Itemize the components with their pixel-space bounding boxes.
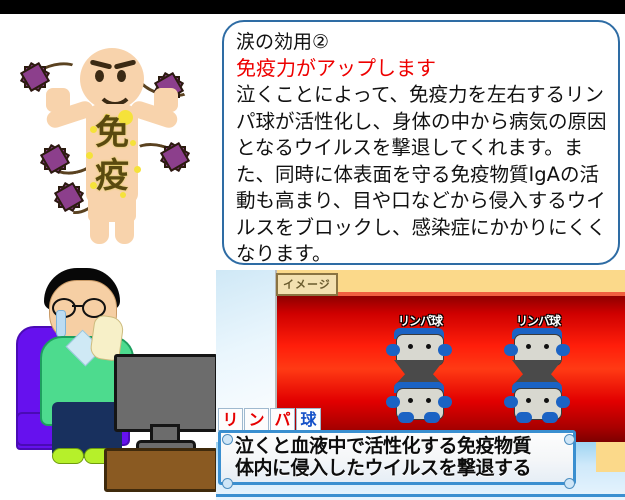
video-red-background <box>277 296 625 442</box>
immunity-illustration: 免疫 <box>6 18 212 260</box>
speech-bubble: 涙の効用② 免疫力がアップします 泣くことによって、免疫力を左右するリンパ球が活… <box>222 20 620 265</box>
mascot-arm <box>386 344 400 356</box>
mascot-eye <box>544 344 549 349</box>
chest-kanji: 免疫 <box>86 112 138 198</box>
caption-line-1: 泣くと血液中で活性化する免疫物質 <box>235 435 565 457</box>
mascot-eye <box>408 398 413 403</box>
left-leg <box>90 198 109 244</box>
mascot-arm <box>438 344 452 356</box>
video-bottom-right-patch <box>596 442 625 472</box>
immunity-body: 免疫 <box>60 48 164 243</box>
video-capture: イメージ リンパ球 リンパ球 <box>216 270 625 500</box>
caption-knob <box>222 478 233 489</box>
image-label-badge: イメージ <box>276 273 338 296</box>
mascot-arm <box>556 396 570 408</box>
mascot-eye <box>426 398 431 403</box>
lymphocyte-mascot: リンパ球 <box>388 312 450 416</box>
right-leg <box>115 198 134 244</box>
bubble-body: 泣くことによって、免疫力を左右するリンパ球が活性化し、身体の中から病気の原因とな… <box>236 82 608 268</box>
title-char: リ <box>218 408 243 431</box>
mascot-eye <box>408 344 413 349</box>
mascot-foot <box>542 412 558 423</box>
mascot-arm <box>556 344 570 356</box>
mascot-label: リンパ球 <box>510 312 566 329</box>
tv-stand <box>104 448 218 492</box>
bubble-title: 涙の効用② <box>236 30 608 55</box>
left-shoe <box>52 448 84 464</box>
crying-man-illustration <box>4 262 216 498</box>
mascot-eye <box>526 344 531 349</box>
mascot-eye <box>526 398 531 403</box>
tv-screen <box>114 354 218 432</box>
title-char: 球 <box>296 408 321 431</box>
mascot-eye <box>426 344 431 349</box>
caption-knob <box>564 478 575 489</box>
top-black-bar <box>0 0 625 14</box>
mascot-foot <box>398 412 414 423</box>
mascot-arm <box>504 396 518 408</box>
tear-icon <box>56 310 66 338</box>
title-char: ン <box>244 408 269 431</box>
mascot-foot <box>516 412 532 423</box>
bubble-subtitle: 免疫力がアップします <box>236 55 608 82</box>
mascot-eye <box>544 398 549 403</box>
lymphocyte-title: リ ン パ 球 <box>218 408 321 431</box>
mascot-foot <box>424 412 440 423</box>
caption-line-2: 体内に侵入したウイルスを撃退する <box>235 457 565 479</box>
mascot-arm <box>386 396 400 408</box>
video-bottom-line <box>216 494 625 497</box>
mascot-label: リンパ球 <box>392 312 448 329</box>
title-char: パ <box>270 408 295 431</box>
video-caption-box: 泣くと血液中で活性化する免疫物質 体内に侵入したウイルスを撃退する <box>218 430 576 485</box>
right-fist <box>154 88 178 112</box>
mascot-arm <box>438 396 452 408</box>
caption-knob <box>564 434 575 445</box>
caption-knob <box>222 434 233 445</box>
lymphocyte-mascot: リンパ球 <box>506 312 568 416</box>
mascot-arm <box>504 344 518 356</box>
left-fist <box>46 88 70 112</box>
